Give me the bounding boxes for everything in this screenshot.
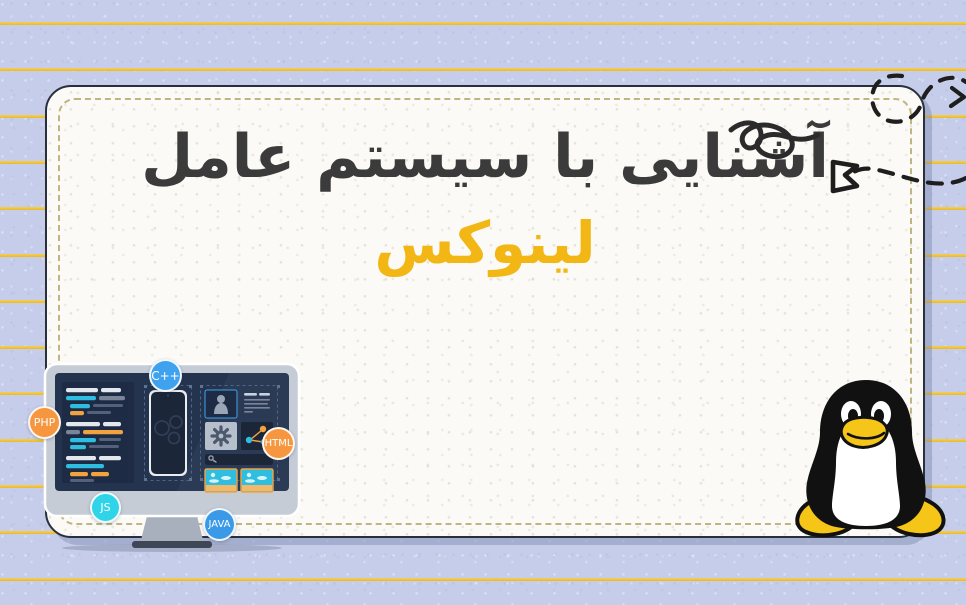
image-thumbnail-2: [241, 469, 273, 492]
slide-canvas: آشنایی با سیستم عامل لینوکس: [0, 0, 966, 605]
phone-mockup: [144, 385, 192, 481]
image-thumbnail-1: [205, 469, 237, 492]
badge-js: JS: [90, 492, 121, 523]
background-ruled-line: [0, 68, 966, 71]
monitor-base: [132, 541, 212, 548]
background-ruled-line: [0, 578, 966, 581]
badge-html: HTML: [262, 427, 295, 460]
badge-cpp: C++: [149, 359, 182, 392]
text-widget: [241, 390, 273, 418]
penguin-beak: [841, 417, 887, 447]
badge-java: JAVA: [203, 508, 236, 541]
penguin-body: [806, 380, 925, 529]
code-editor-panel: [62, 382, 134, 483]
gear-widget-icon: [205, 422, 237, 450]
avatar-widget: [205, 390, 237, 418]
linux-tux-penguin-icon: [786, 376, 946, 540]
badge-php: PHP: [28, 406, 61, 439]
background-ruled-line: [0, 22, 966, 25]
search-widget: [205, 454, 273, 465]
